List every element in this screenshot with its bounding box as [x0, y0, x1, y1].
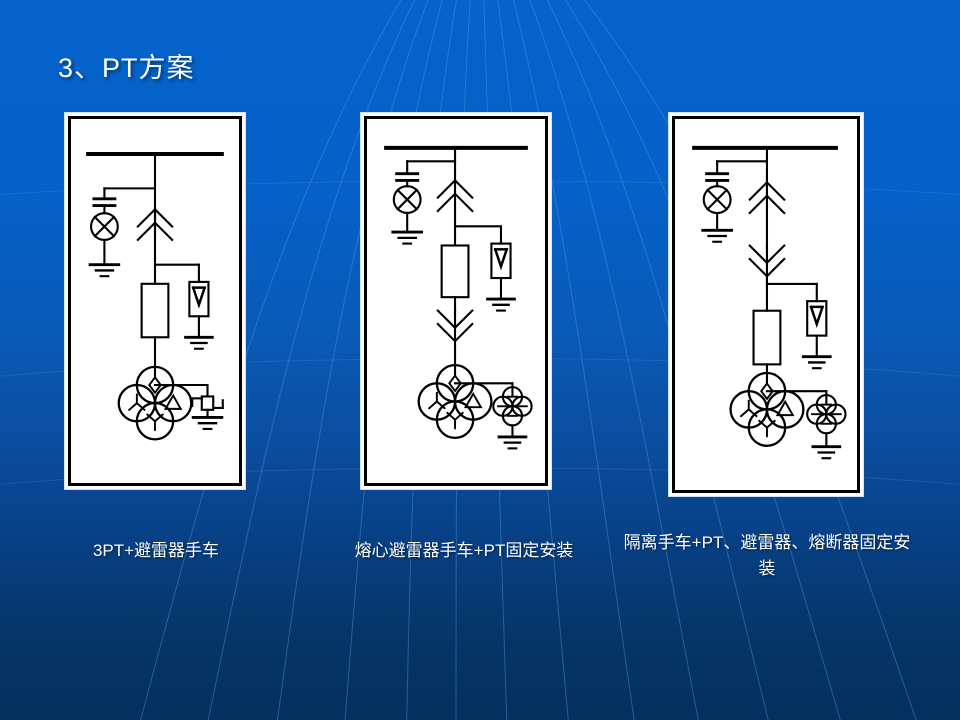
scheme-3-schematic	[675, 119, 857, 490]
small-four-circle-symbol	[807, 395, 845, 458]
scheme-1-diagram-frame	[68, 116, 242, 486]
pt-four-circle-symbol	[731, 373, 804, 446]
fuse-body	[442, 245, 469, 297]
arrester-v-glyph	[495, 249, 506, 266]
slide-canvas: 3、PT方案	[0, 0, 960, 720]
scheme-3-diagram-frame	[672, 116, 860, 493]
fuse-body	[754, 311, 781, 365]
scheme-1-diagram-panel	[64, 112, 246, 490]
scheme-2-diagram-panel	[360, 112, 552, 490]
scheme-1-caption: 3PT+避雷器手车	[46, 538, 266, 564]
arrester-v-glyph	[811, 307, 822, 324]
page-title: 3、PT方案	[58, 46, 195, 85]
pt-four-circle-symbol	[419, 365, 492, 438]
pt-four-circle-symbol	[119, 367, 192, 440]
scheme-3-diagram-panel	[668, 112, 864, 497]
scheme-3-caption: 隔离手车+PT、避雷器、熔断器固定安装	[622, 530, 912, 582]
scheme-2-diagram-frame	[364, 116, 548, 486]
fuse-body	[142, 284, 169, 337]
scheme-1-schematic	[71, 119, 239, 483]
arrester-v-glyph	[193, 288, 204, 305]
scheme-2-schematic	[367, 119, 545, 483]
earthing-switch-symbol	[192, 396, 223, 428]
small-four-circle-symbol	[493, 387, 531, 448]
scheme-2-caption: 熔心避雷器手车+PT固定安装	[330, 538, 598, 564]
